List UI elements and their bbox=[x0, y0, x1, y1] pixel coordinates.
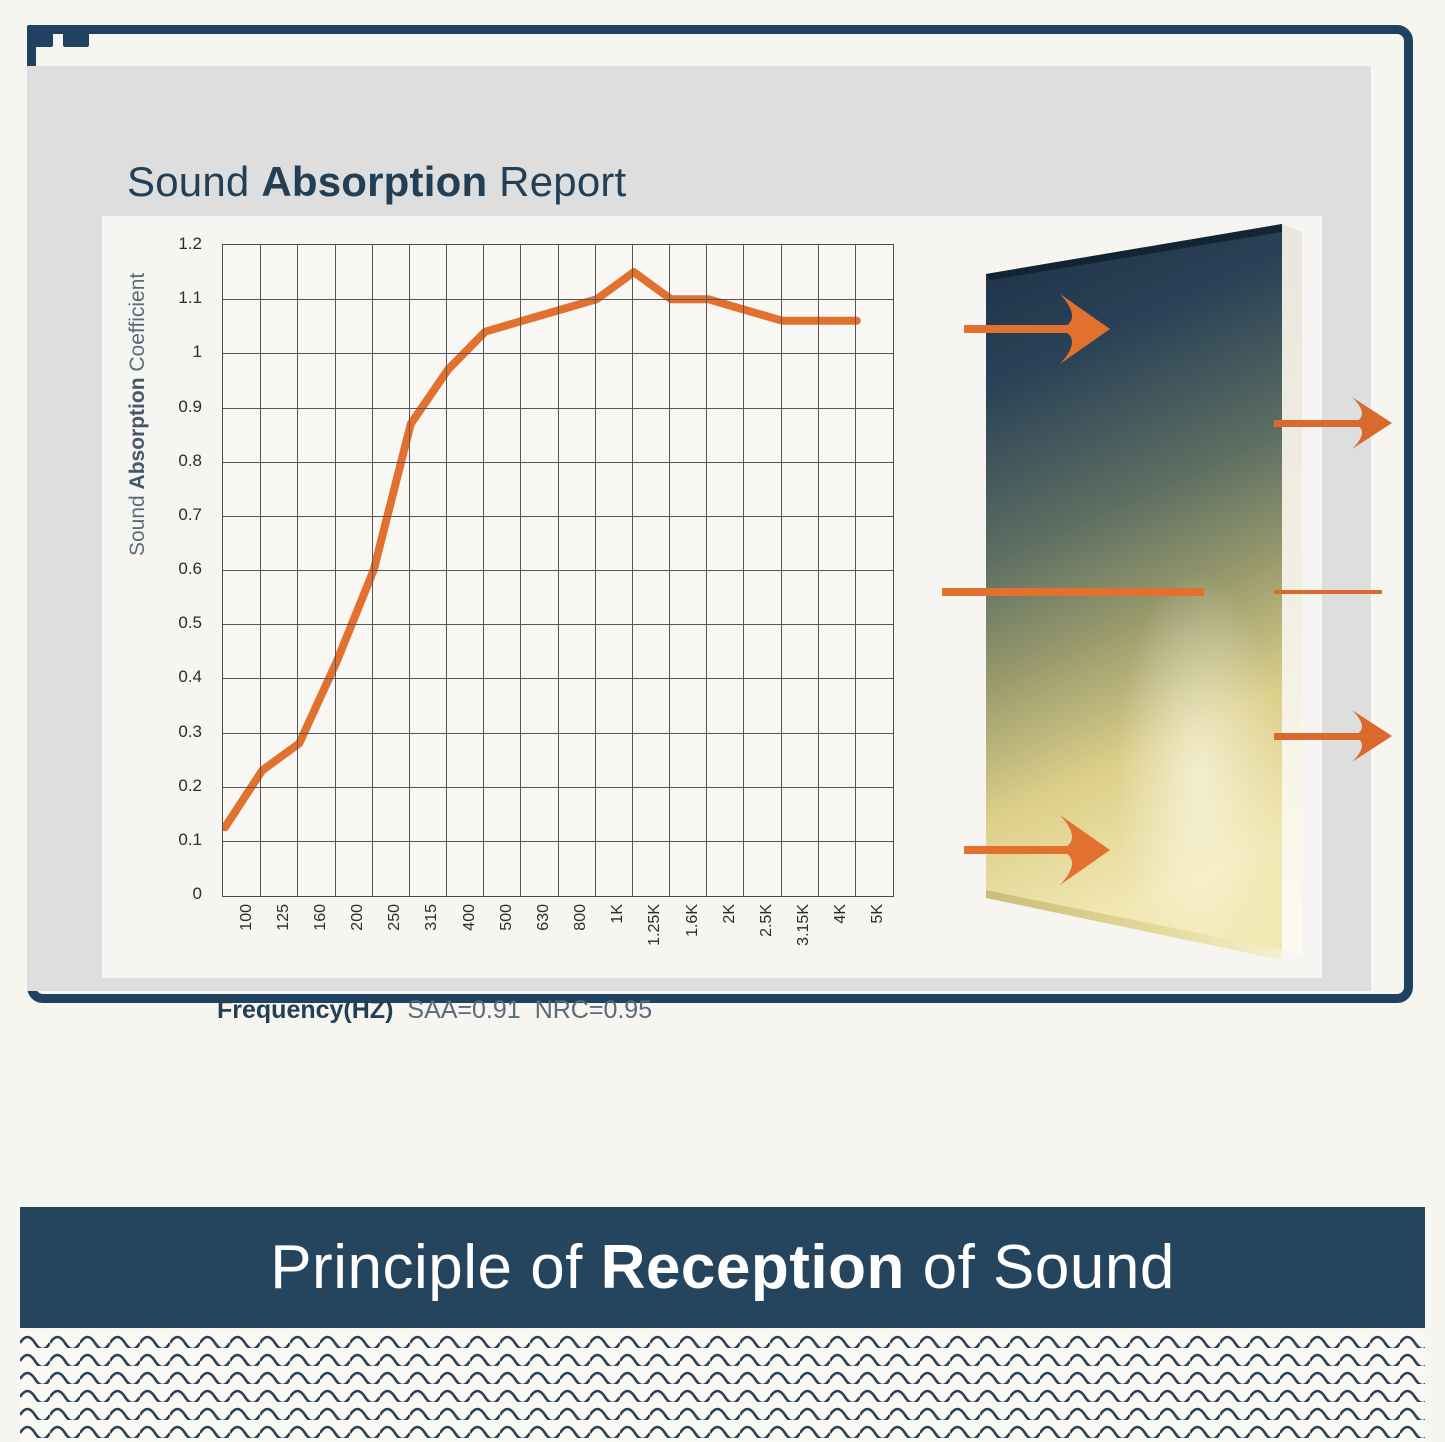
saa-value: SAA=0.91 bbox=[407, 996, 520, 1024]
y-axis-ticks: 00.10.20.30.40.50.60.70.80.911.11.2 bbox=[150, 216, 202, 978]
window-dot-right bbox=[63, 25, 89, 47]
wave-mesh-pattern bbox=[20, 1330, 1425, 1442]
grid-line-horizontal bbox=[223, 624, 893, 625]
grid-line-horizontal bbox=[223, 353, 893, 354]
grid-line-horizontal bbox=[223, 299, 893, 300]
grid-line-horizontal bbox=[223, 462, 893, 463]
chart-panel: Sound Absorption Coefficient 00.10.20.30… bbox=[102, 216, 1322, 978]
chart-caption: Frequency(HZ)SAA=0.91NRC=0.95 bbox=[217, 996, 652, 1025]
bottom-banner: Principle of Reception of Sound bbox=[20, 1207, 1425, 1328]
y-tick-label: 0.4 bbox=[156, 667, 202, 687]
x-tick-label: 500 bbox=[498, 904, 516, 931]
y-tick-label: 1.1 bbox=[156, 288, 202, 308]
title-suffix: Report bbox=[487, 158, 626, 205]
grid-line-horizontal bbox=[223, 787, 893, 788]
outgoing-arrow-bottom bbox=[1274, 710, 1392, 762]
window-dot-left bbox=[27, 25, 53, 47]
x-tick-label: 160 bbox=[312, 904, 330, 931]
x-tick-label: 800 bbox=[572, 904, 590, 931]
x-tick-label: 3.15K bbox=[795, 904, 813, 946]
x-tick-label: 315 bbox=[423, 904, 441, 931]
y-tick-label: 1.2 bbox=[156, 234, 202, 254]
y-tick-label: 0.1 bbox=[156, 830, 202, 850]
banner-bold: Reception bbox=[601, 1233, 905, 1302]
grid-line-horizontal bbox=[223, 841, 893, 842]
x-tick-label: 400 bbox=[461, 904, 479, 931]
x-tick-label: 2.5K bbox=[758, 904, 776, 937]
grid-line-horizontal bbox=[223, 516, 893, 517]
x-axis-ticks: 1001251602002503154005006308001K1.25K1.6… bbox=[222, 904, 894, 994]
x-tick-label: 250 bbox=[386, 904, 404, 931]
feature-tag-row bbox=[20, 1062, 1425, 1162]
plot-area bbox=[222, 244, 894, 897]
outgoing-arrow-top bbox=[1274, 397, 1392, 449]
grid-line-horizontal bbox=[223, 408, 893, 409]
y-tick-label: 0.2 bbox=[156, 776, 202, 796]
nrc-value: NRC=0.95 bbox=[535, 996, 652, 1024]
x-tick-label: 630 bbox=[535, 904, 553, 931]
y-tick-label: 0.8 bbox=[156, 451, 202, 471]
x-tick-label: 1K bbox=[609, 904, 627, 924]
y-title-suffix: Coefficient bbox=[126, 273, 149, 378]
x-tick-label: 125 bbox=[275, 904, 293, 931]
grid-line-horizontal bbox=[223, 570, 893, 571]
banner-suffix: of Sound bbox=[905, 1233, 1175, 1302]
y-title-prefix: Sound bbox=[126, 489, 149, 556]
y-tick-label: 0.5 bbox=[156, 613, 202, 633]
grid-line-horizontal bbox=[223, 678, 893, 679]
banner-title: Principle of Reception of Sound bbox=[270, 1232, 1175, 1303]
title-prefix: Sound bbox=[127, 158, 261, 205]
y-tick-label: 0.9 bbox=[156, 397, 202, 417]
report-card: Sound Absorption Report Sound Absorption… bbox=[27, 66, 1371, 991]
grid-line-horizontal bbox=[223, 733, 893, 734]
frequency-label: Frequency(HZ) bbox=[217, 996, 393, 1024]
y-title-bold: Absorption bbox=[126, 377, 149, 489]
absorption-chart: Sound Absorption Coefficient 00.10.20.30… bbox=[102, 216, 942, 978]
y-tick-label: 0.3 bbox=[156, 722, 202, 742]
x-tick-label: 1.25K bbox=[646, 904, 664, 946]
transmitted-sound-diagram bbox=[1260, 216, 1445, 978]
title-bold: Absorption bbox=[261, 158, 487, 205]
panel-illustration bbox=[942, 216, 1322, 978]
x-tick-label: 1.6K bbox=[684, 904, 702, 937]
y-axis-title: Sound Absorption Coefficient bbox=[126, 516, 150, 556]
banner-prefix: Principle of bbox=[270, 1233, 600, 1302]
x-tick-label: 5K bbox=[869, 904, 887, 924]
x-tick-label: 2K bbox=[721, 904, 739, 924]
x-tick-label: 4K bbox=[832, 904, 850, 924]
y-tick-label: 1 bbox=[156, 342, 202, 362]
y-tick-label: 0.6 bbox=[156, 559, 202, 579]
x-tick-label: 200 bbox=[349, 904, 367, 931]
x-tick-label: 100 bbox=[238, 904, 256, 931]
y-tick-label: 0 bbox=[156, 884, 202, 904]
page-title: Sound Absorption Report bbox=[127, 158, 626, 206]
y-tick-label: 0.7 bbox=[156, 505, 202, 525]
